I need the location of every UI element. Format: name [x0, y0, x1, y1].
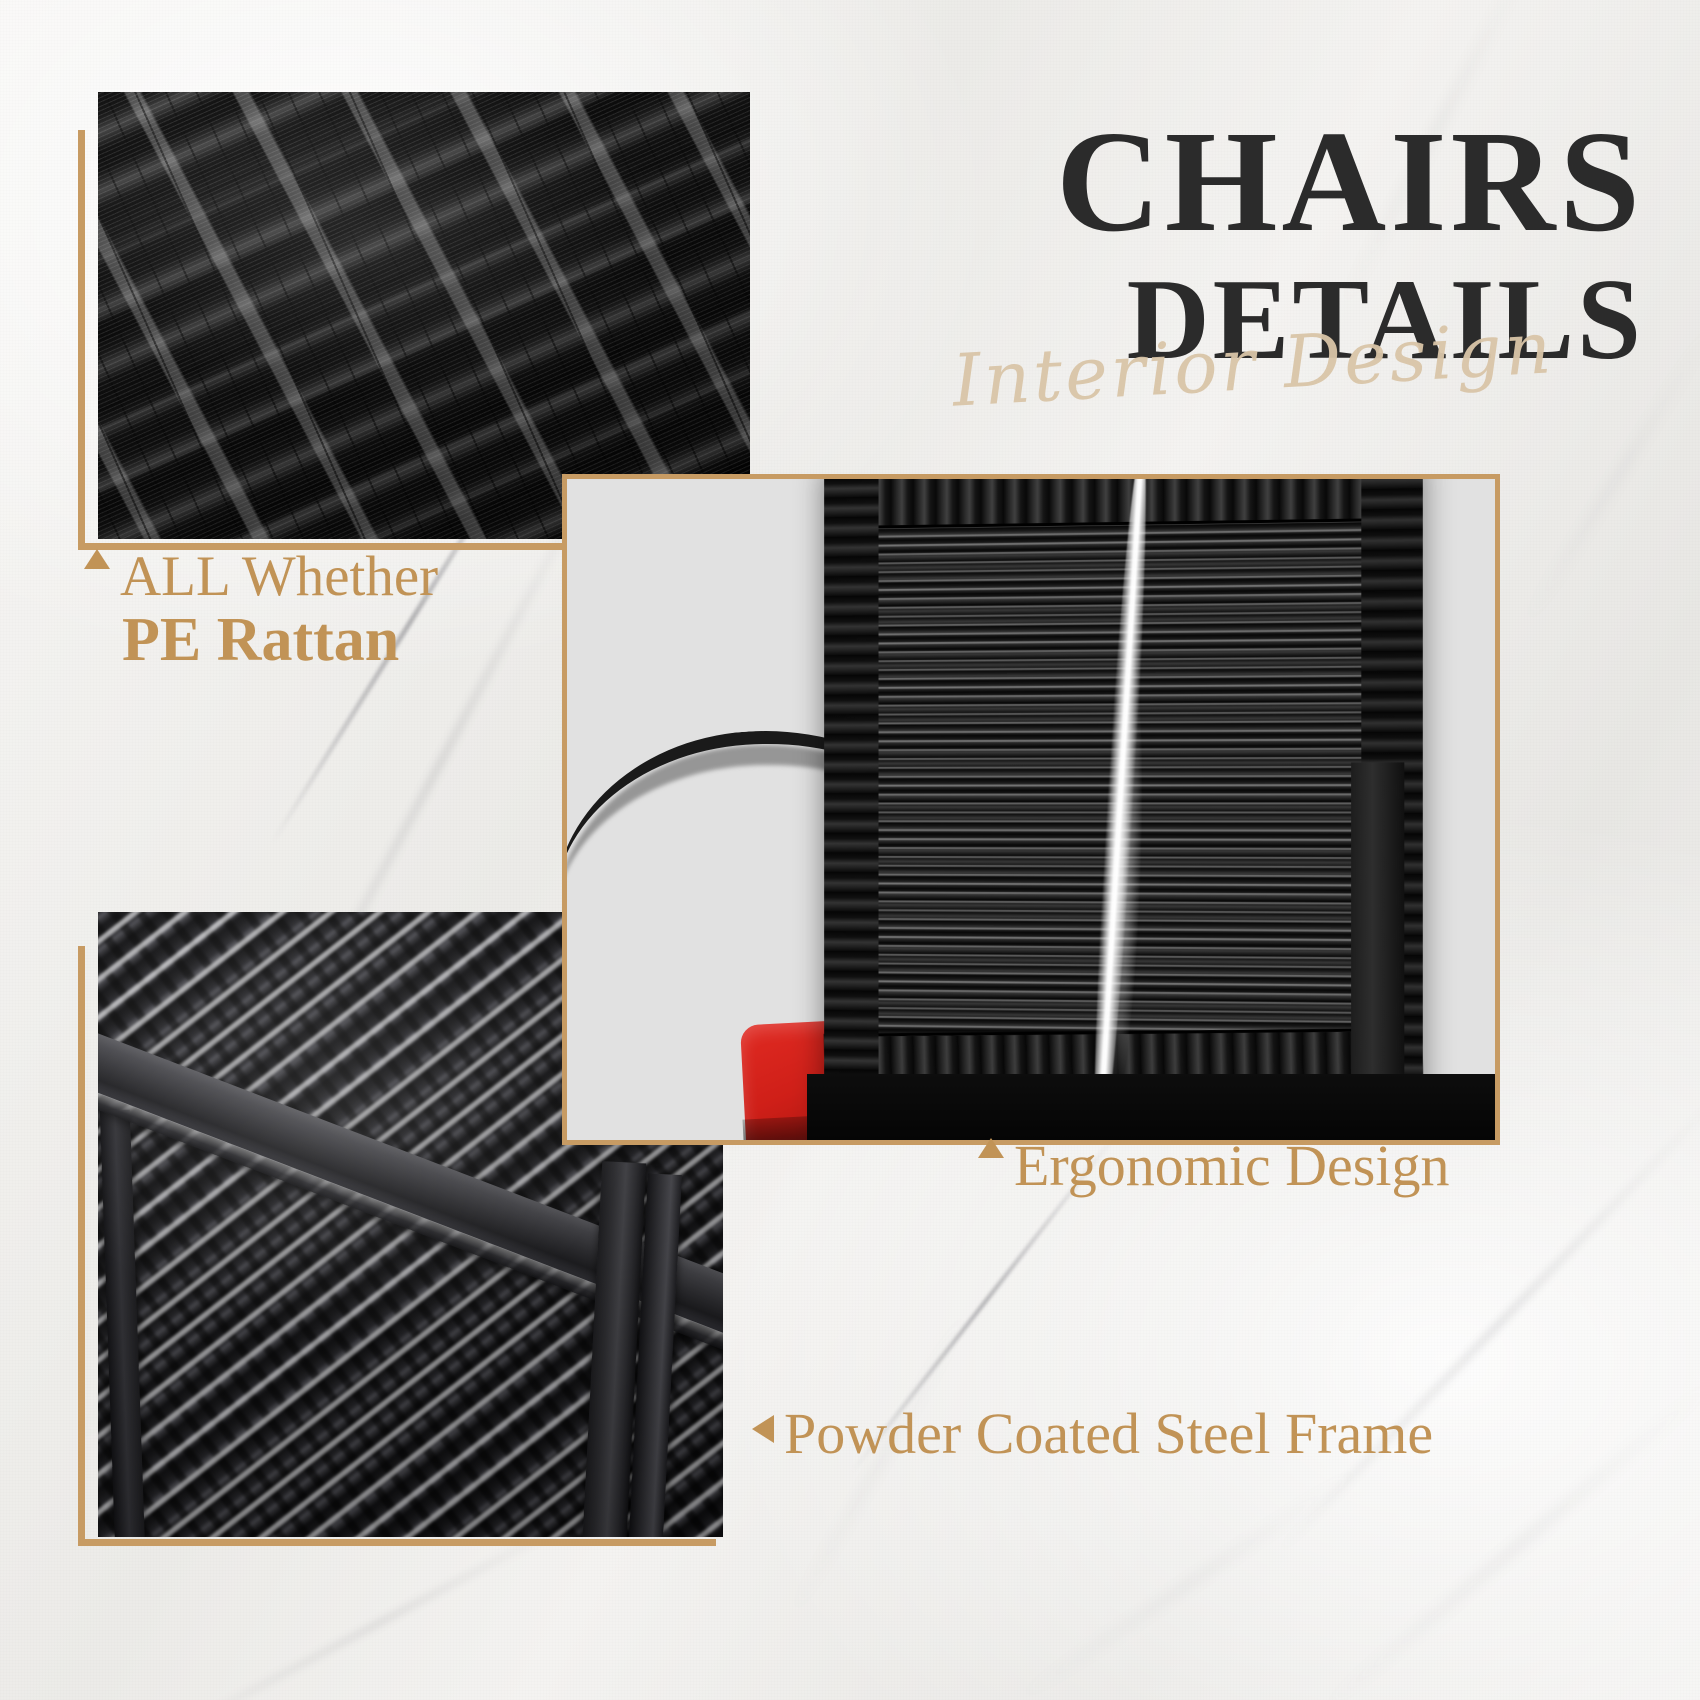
caption-rattan-line1-row: ALL Whether — [84, 548, 438, 606]
rattan-gloss — [98, 92, 750, 539]
caption-steel: Powder Coated Steel Frame — [752, 1400, 1433, 1467]
caption-rattan: ALL Whether PE Rattan — [84, 548, 438, 676]
page-title-script: Interior Design — [950, 311, 1555, 417]
chair-photo-backdrop — [567, 479, 1495, 1140]
caption-ergonomic-text: Ergonomic Design — [1014, 1133, 1449, 1198]
gold-frame-line — [78, 946, 85, 1546]
infographic-canvas: CHAIRS DETAILS Interior Design ALL Wheth… — [0, 0, 1700, 1700]
triangle-left-icon — [752, 1415, 774, 1443]
caption-rattan-line1: ALL Whether — [120, 545, 438, 608]
chair-base-shadow — [807, 1074, 1495, 1140]
caption-ergonomic: Ergonomic Design — [978, 1132, 1449, 1199]
marble-vein — [1014, 1463, 1366, 1700]
chair-back-panel — [824, 479, 1423, 1140]
caption-steel-text: Powder Coated Steel Frame — [784, 1401, 1433, 1466]
triangle-up-icon — [978, 1138, 1004, 1158]
rattan-weave-photo — [98, 92, 750, 539]
gold-frame-line — [78, 1539, 716, 1546]
chair-back-photo — [562, 474, 1500, 1145]
chair-left-stile — [824, 479, 878, 1140]
chair-top-rail — [824, 479, 1423, 529]
page-title-line1: CHAIRS — [1056, 110, 1644, 255]
caption-rattan-line2: PE Rattan — [122, 606, 438, 675]
gold-frame-line — [78, 130, 85, 550]
title-block: CHAIRS DETAILS Interior Design — [820, 110, 1650, 430]
triangle-up-icon — [84, 549, 110, 569]
